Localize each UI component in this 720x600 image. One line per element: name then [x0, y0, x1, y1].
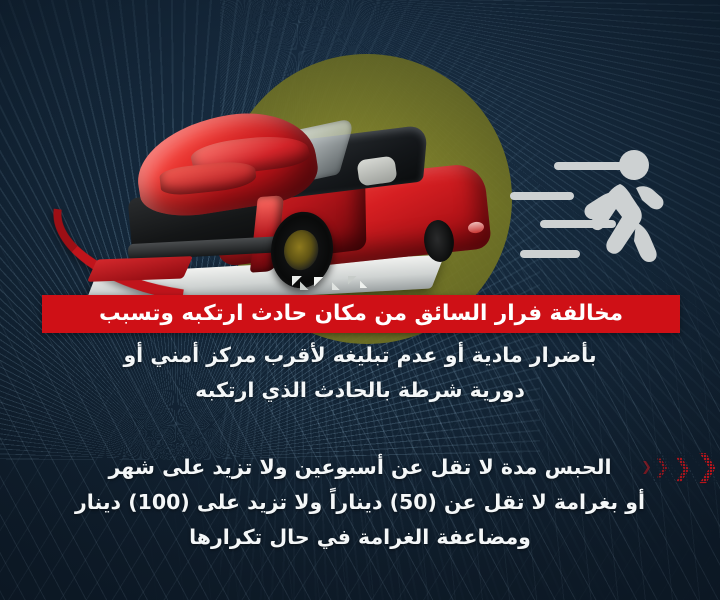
headline-banner: مخالفة فرار السائق من مكان حادث ارتكبه و…: [42, 295, 680, 333]
penalty-line: أو بغرامة لا تقل عن (50) ديناراً ولا تزي…: [34, 485, 686, 520]
car-glass-debris: [292, 276, 374, 292]
penalty-line: الحبس مدة لا تقل عن أسبوعين ولا تزيد على…: [34, 450, 686, 485]
description-line: دورية شرطة بالحادث الذي ارتكبه: [34, 373, 686, 408]
chevron-left-icon: ❮: [654, 458, 670, 477]
running-man-icon: [562, 148, 672, 266]
chevron-left-icon: ❮: [695, 452, 720, 482]
wrecked-car-illustration: [40, 100, 510, 300]
description-paragraph: بأضرار مادية أو عدم تبليغه لأقرب مركز أم…: [0, 338, 720, 408]
chevron-arrows-decoration: ❮ ❮ ❮ ❮: [652, 452, 720, 482]
description-line: بأضرار مادية أو عدم تبليغه لأقرب مركز أم…: [34, 338, 686, 373]
penalty-line: ومضاعفة الغرامة في حال تكرارها: [34, 520, 686, 555]
penalty-paragraph: الحبس مدة لا تقل عن أسبوعين ولا تزيد على…: [0, 450, 720, 555]
car-debris-flap: [87, 256, 193, 282]
chevron-left-icon: ❮: [672, 455, 693, 480]
headline-text: مخالفة فرار السائق من مكان حادث ارتكبه و…: [99, 303, 623, 325]
fleeing-runner-group: [492, 148, 672, 268]
infographic-poster: مخالفة فرار السائق من مكان حادث ارتكبه و…: [0, 0, 720, 600]
car-front-wheel-hub: [284, 229, 319, 272]
chevron-left-icon: ❮: [641, 461, 652, 474]
